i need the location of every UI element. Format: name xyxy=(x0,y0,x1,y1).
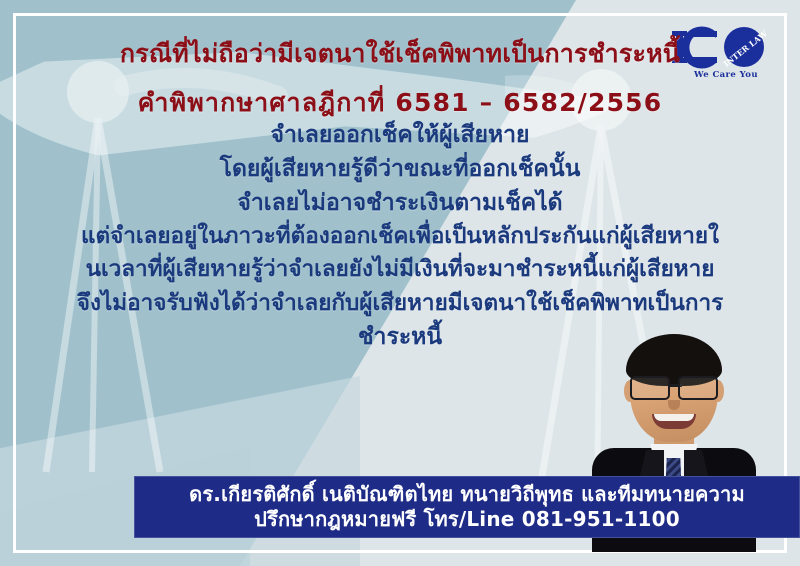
portrait-lens-right xyxy=(678,376,718,400)
ruling-body-text: จำเลยออกเช็คให้ผู้เสียหาย โดยผู้เสียหายร… xyxy=(16,118,784,354)
headline-line-1: กรณีที่ไม่ถือว่ามีเจตนาใช้เช็คพิพาทเป็นก… xyxy=(120,39,680,68)
legal-announcement-poster: INTER LAW We Care You กรณีที่ไม่ถือว่ามี… xyxy=(0,0,800,566)
body-line-6: จึงไม่อาจรับฟังได้ว่าจำเลยกับผู้เสียหายม… xyxy=(16,287,784,320)
portrait-eyeglasses-icon xyxy=(628,376,720,398)
headline-line-2: คำพิพากษาศาลฎีกาที่ 6581 – 6582/2556 xyxy=(0,83,800,123)
body-line-5: นเวลาที่ผู้เสียหายรู้ว่าจำเลยยังไม่มีเงิ… xyxy=(16,253,784,286)
body-line-4: แต่จำเลยอยู่ในภาวะที่ต้องออกเช็คเพื่อเป็… xyxy=(16,220,784,253)
banner-line-2: ปรึกษากฎหมายฟรี โทร/Line 081-951-1100 xyxy=(254,507,680,532)
body-line-1: จำเลยออกเช็คให้ผู้เสียหาย xyxy=(16,118,784,152)
page-title: กรณีที่ไม่ถือว่ามีเจตนาใช้เช็คพิพาทเป็นก… xyxy=(0,34,800,123)
banner-line-1: ดร.เกียรติศักดิ์ เนติบัณฑิตไทย ทนายวิถีพ… xyxy=(189,482,745,507)
body-line-2: โดยผู้เสียหายรู้ดีว่าขณะที่ออกเช็คนั้น xyxy=(16,152,784,186)
body-line-3: จำเลยไม่อาจชำระเงินตามเช็คได้ xyxy=(16,186,784,220)
contact-banner: ดร.เกียรติศักดิ์ เนติบัณฑิตไทย ทนายวิถีพ… xyxy=(134,476,800,538)
portrait-teeth xyxy=(654,414,694,421)
portrait-lens-left xyxy=(630,376,670,400)
